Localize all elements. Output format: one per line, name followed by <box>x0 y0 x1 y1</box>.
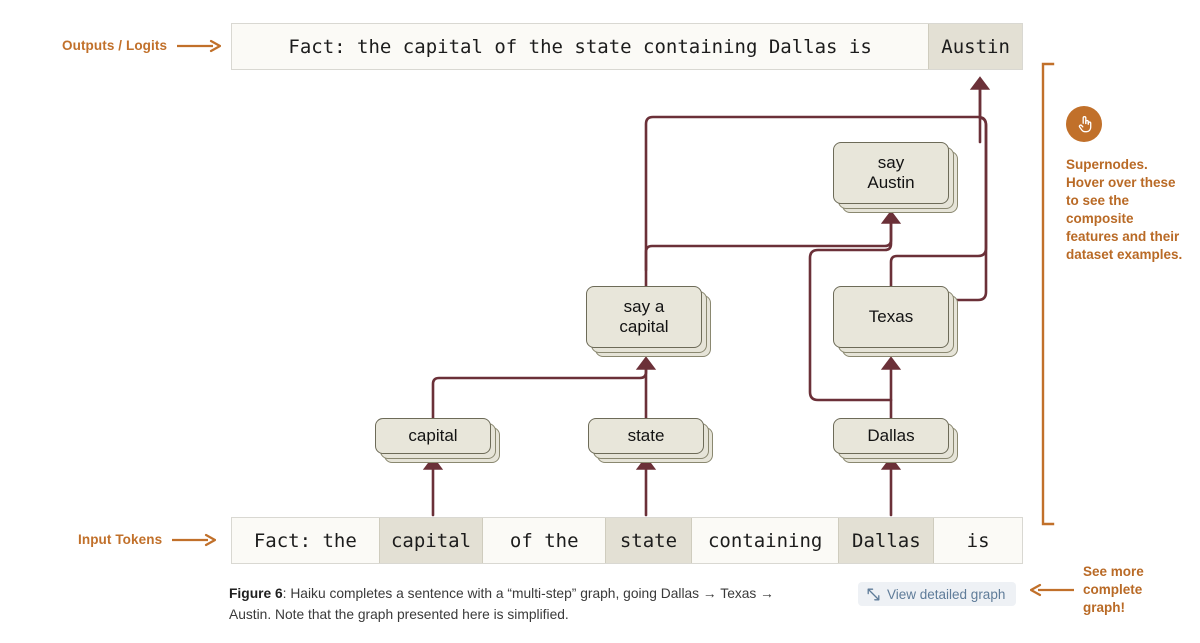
input-token-cell-of-the[interactable]: of the <box>483 518 605 563</box>
see-more-complete-graph-text: See more complete graph! <box>1083 563 1144 617</box>
edge-say-capital-to-say-austin-2 <box>646 218 891 270</box>
arrow-right-icon <box>177 39 221 53</box>
supernodes-bracket <box>1036 62 1062 526</box>
supernode-dallas[interactable]: Dallas <box>833 418 949 454</box>
supernodes-callout: Supernodes. Hover over these to see the … <box>1066 106 1184 264</box>
supernode-say-a-capital-label: say a capital <box>586 286 702 348</box>
view-detailed-graph-button[interactable]: View detailed graph <box>858 582 1016 606</box>
pointing-hand-icon <box>1066 106 1102 142</box>
arrow-right-icon <box>172 533 216 547</box>
supernode-texas-label: Texas <box>833 286 949 348</box>
outputs-logits-strip: Fact: the capital of the state containin… <box>231 23 1023 70</box>
input-token-cell-fact-the[interactable]: Fact: the <box>232 518 379 563</box>
supernode-dallas-label: Dallas <box>833 418 949 454</box>
figure-caption: Figure 6: Haiku completes a sentence wit… <box>229 584 804 625</box>
edge-capital-to-say-capital <box>433 360 646 418</box>
outputs-logits-label-text: Outputs / Logits <box>62 38 167 53</box>
input-tokens-label: Input Tokens <box>78 532 216 547</box>
figure-caption-text: : Haiku completes a sentence with a “mul… <box>229 586 774 622</box>
input-token-cell-capital[interactable]: capital <box>379 518 484 563</box>
supernode-capital[interactable]: capital <box>375 418 491 454</box>
supernode-state-label: state <box>588 418 704 454</box>
input-token-cell-state[interactable]: state <box>605 518 692 563</box>
input-token-cell-is[interactable]: is <box>934 518 1022 563</box>
supernodes-callout-text: Supernodes. Hover over these to see the … <box>1066 156 1184 264</box>
figure-number: Figure 6 <box>229 586 283 601</box>
supernode-say-austin-label: say Austin <box>833 142 949 204</box>
input-token-cell-dallas[interactable]: Dallas <box>838 518 934 563</box>
output-token-cell-austin[interactable]: Austin <box>928 24 1022 69</box>
supernode-say-a-capital[interactable]: say a capital <box>586 286 702 348</box>
supernode-capital-label: capital <box>375 418 491 454</box>
see-more-complete-graph-callout: See more complete graph! <box>1030 563 1144 617</box>
output-token-cell[interactable]: Fact: the capital of the state containin… <box>232 24 928 69</box>
input-tokens-label-text: Input Tokens <box>78 532 162 547</box>
outputs-logits-label: Outputs / Logits <box>62 38 221 53</box>
supernode-say-austin[interactable]: say Austin <box>833 142 949 204</box>
supernode-state[interactable]: state <box>588 418 704 454</box>
input-tokens-strip: Fact: the capital of the state containin… <box>231 517 1023 564</box>
view-detailed-graph-label: View detailed graph <box>887 587 1005 602</box>
input-token-cell-containing[interactable]: containing <box>692 518 839 563</box>
expand-diagonal-icon <box>867 588 880 601</box>
arrow-left-icon <box>1030 583 1074 597</box>
supernode-texas[interactable]: Texas <box>833 286 949 348</box>
